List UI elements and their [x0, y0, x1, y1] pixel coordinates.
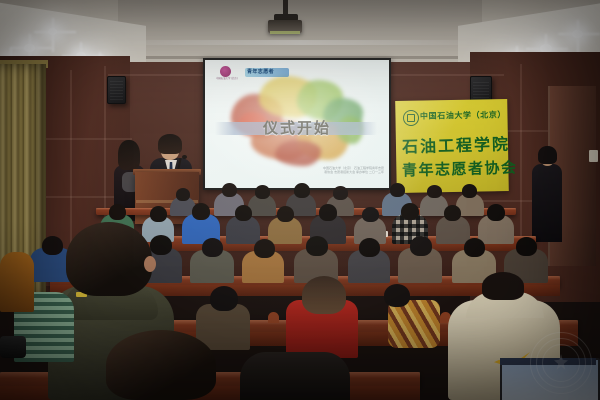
audience-head	[66, 222, 152, 296]
audience-head	[150, 206, 167, 222]
audience-head	[254, 239, 275, 258]
audience-head	[319, 204, 337, 221]
audience-head	[306, 236, 328, 256]
audience-head	[464, 238, 485, 257]
audience-head	[277, 206, 294, 222]
audience-head	[294, 183, 310, 198]
photo-scene: 仪式开始 中国石油大学 (北京) 青年志愿者 中国石油大学（北京） 石油工程学院…	[0, 0, 600, 400]
audience-head	[202, 238, 223, 257]
ceiling-light	[24, 44, 35, 52]
audience-body	[0, 252, 34, 312]
audience-head	[42, 236, 63, 255]
audience-head	[384, 284, 410, 307]
slide-ribbon-text: 青年志愿者	[247, 68, 274, 75]
audience-head	[210, 286, 238, 311]
audience-head	[255, 185, 270, 199]
banner-line-2: 石油工程学院	[402, 131, 511, 158]
wall-seam	[70, 70, 72, 250]
laptop-bezel-strip	[500, 358, 596, 365]
ceiling-light	[48, 28, 57, 35]
banner-line-1: 中国石油大学（北京）	[420, 109, 506, 121]
banner-line-3: 青年志愿者协会	[402, 156, 518, 180]
slide-footer-text: 中国石油大学（北京） 石油工程学院青年志愿者协会 志愿者招新大会 承办单位 二〇…	[322, 166, 384, 175]
audience-head	[390, 183, 405, 197]
audience-head	[222, 183, 237, 197]
standing-staff-body	[532, 164, 562, 242]
wall-speaker-left	[107, 76, 126, 104]
patterned-backpack	[388, 300, 440, 348]
projector-lens	[270, 31, 300, 34]
ceiling-beam-front	[120, 40, 480, 45]
audience-head	[462, 184, 477, 198]
wall-seam	[520, 64, 522, 254]
audience-head	[401, 203, 419, 220]
audience-head	[109, 204, 126, 220]
audience-head	[192, 203, 210, 220]
audience-body	[240, 352, 350, 400]
light-switch[interactable]	[589, 150, 598, 162]
microphone-icon	[182, 155, 187, 159]
camera-lens-icon	[0, 336, 26, 358]
university-seal-icon	[403, 110, 419, 126]
slide-title: 仪式开始	[205, 117, 389, 138]
female-presenter-hair	[118, 140, 140, 170]
audience-head	[176, 188, 190, 201]
audience-head	[444, 205, 461, 221]
audience-head	[106, 330, 216, 400]
audience-head	[410, 236, 432, 256]
audience-ear	[144, 256, 156, 272]
male-presenter-hair	[158, 134, 182, 154]
audience-head	[302, 276, 346, 314]
audience-head	[359, 238, 380, 257]
standing-staff-hair	[538, 146, 557, 164]
audience-head	[235, 205, 252, 221]
wall-seam	[46, 138, 132, 140]
slide-art-blob	[275, 140, 321, 166]
slide-logo-text: 中国石油大学 (北京)	[216, 78, 240, 81]
ceiling-light	[572, 30, 583, 38]
audience-head	[362, 207, 379, 222]
audience-head	[427, 185, 442, 198]
bench-knob	[268, 312, 279, 323]
audience-head	[487, 204, 505, 221]
audience-head	[482, 272, 524, 300]
audience-head	[516, 237, 537, 256]
audience-head	[333, 186, 348, 200]
slide-university-logo-icon	[220, 66, 231, 77]
audience-head	[150, 235, 172, 255]
